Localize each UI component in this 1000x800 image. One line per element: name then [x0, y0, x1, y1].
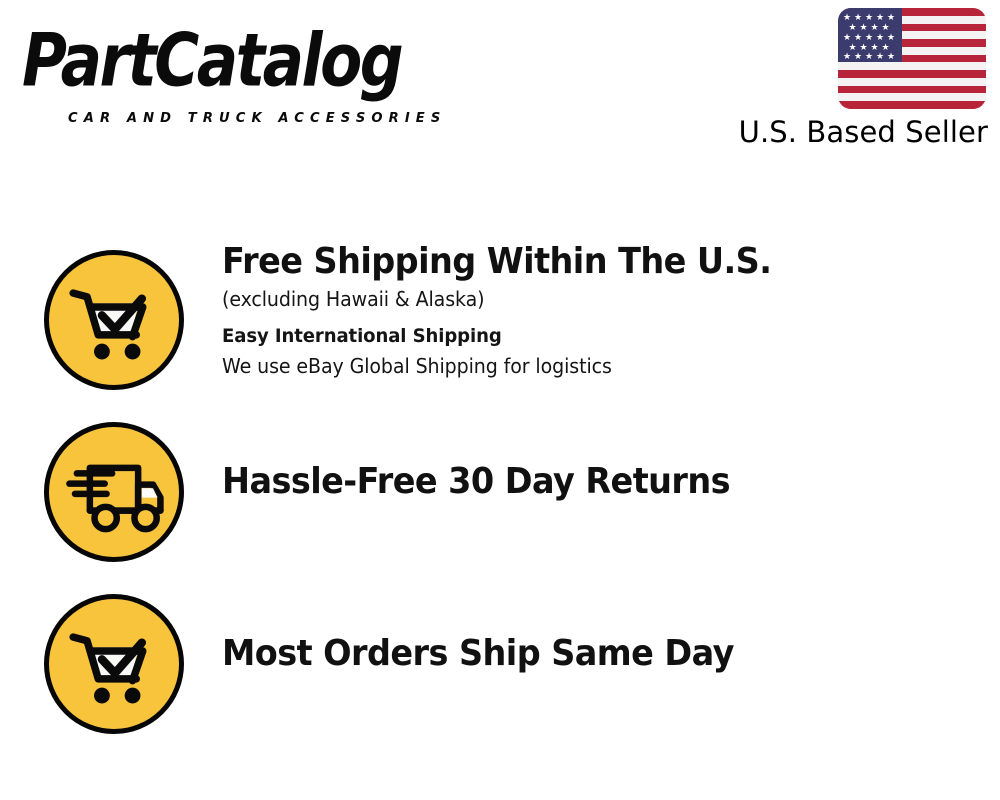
- flag-star: ★: [854, 33, 862, 42]
- flag-stripe: [838, 101, 986, 109]
- flag-star: ★: [865, 52, 873, 61]
- flag-star: ★: [887, 33, 895, 42]
- feature-headline: Most Orders Ship Same Day: [222, 632, 929, 676]
- flag-stripe: [838, 86, 986, 94]
- flag-star: ★: [865, 13, 873, 22]
- flag-star: ★: [876, 52, 884, 61]
- flag-star: ★: [882, 23, 890, 32]
- flag-star: ★: [887, 52, 895, 61]
- brand-wordmark: PartCatalog: [22, 22, 487, 100]
- feature-headline: Hassle-Free 30 Day Returns: [222, 460, 929, 504]
- flag-star: ★: [887, 13, 895, 22]
- flag-star: ★: [876, 13, 884, 22]
- feature-row: Most Orders Ship Same Day: [0, 588, 1000, 740]
- us-flag-icon: ★ ★ ★ ★ ★ ★ ★ ★ ★ ★ ★ ★ ★ ★ ★ ★ ★ ★ ★ ★: [838, 8, 986, 109]
- feature-sub-note: (excluding Hawaii & Alaska): [222, 284, 944, 314]
- us-based-seller-badge: ★ ★ ★ ★ ★ ★ ★ ★ ★ ★ ★ ★ ★ ★ ★ ★ ★ ★ ★ ★: [838, 8, 986, 109]
- flag-star: ★: [843, 13, 851, 22]
- feature-text-block: Free Shipping Within The U.S. (excluding…: [222, 240, 982, 381]
- feature-sub-detail: We use eBay Global Shipping for logistic…: [222, 351, 944, 381]
- flag-star: ★: [865, 33, 873, 42]
- flag-canton: ★ ★ ★ ★ ★ ★ ★ ★ ★ ★ ★ ★ ★ ★ ★ ★ ★ ★ ★ ★: [838, 8, 902, 62]
- feature-text-block: Hassle-Free 30 Day Returns: [222, 460, 982, 504]
- us-based-seller-label: U.S. Based Seller: [739, 115, 988, 149]
- feature-sub-heading: Easy International Shipping: [222, 321, 944, 351]
- flag-stripe: [838, 70, 986, 78]
- feature-row: Hassle-Free 30 Day Returns: [0, 416, 1000, 568]
- feature-headline: Free Shipping Within The U.S.: [222, 240, 929, 284]
- brand-tagline: CAR AND TRUCK ACCESSORIES: [68, 110, 446, 126]
- shopping-cart-check-icon: [44, 250, 184, 390]
- flag-star: ★: [860, 23, 868, 32]
- delivery-truck-icon: [44, 422, 184, 562]
- feature-row: Free Shipping Within The U.S. (excluding…: [0, 236, 1000, 414]
- brand-logo: PartCatalog CAR AND TRUCK ACCESSORIES: [22, 22, 492, 117]
- flag-star: ★: [849, 23, 857, 32]
- flag-stripe: [838, 93, 986, 101]
- flag-star: ★: [871, 23, 879, 32]
- flag-stripe: [838, 62, 986, 70]
- flag-star: ★: [876, 33, 884, 42]
- shopping-cart-check-icon: [44, 594, 184, 734]
- flag-star: ★: [843, 52, 851, 61]
- spacer: [222, 314, 982, 321]
- flag-star: ★: [843, 33, 851, 42]
- feature-text-block: Most Orders Ship Same Day: [222, 632, 982, 676]
- flag-star: ★: [854, 13, 862, 22]
- flag-stripe: [838, 78, 986, 86]
- flag-star: ★: [854, 52, 862, 61]
- page-header: PartCatalog CAR AND TRUCK ACCESSORIES ★ …: [0, 0, 1000, 170]
